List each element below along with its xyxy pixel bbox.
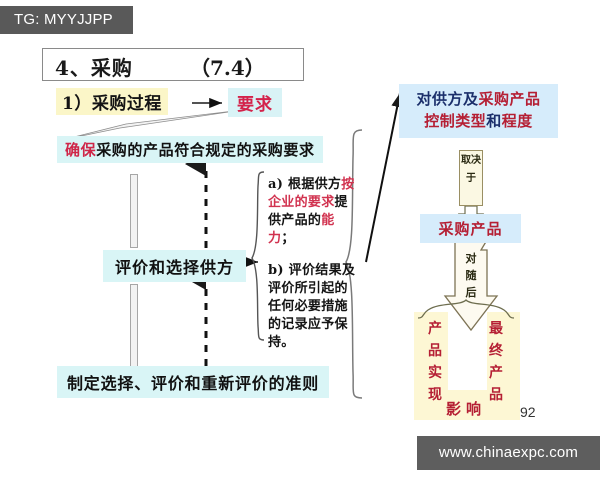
note-a-marker: a) <box>268 177 283 192</box>
note-a: a) 根据供方按企业的要求提供产品的能力； <box>268 176 360 248</box>
control-header-line2-a: 控制类型 <box>424 112 486 130</box>
criteria-band: 制定选择、评价和重新评价的准则 <box>57 366 329 398</box>
subtitle-result: 要求 <box>228 88 282 117</box>
effect-arrow-label: 对随后 <box>462 250 480 301</box>
tg-badge: TG: MYYJJPP <box>0 6 133 34</box>
impact-left-label: 产品实现 <box>425 318 445 406</box>
note-b: b) 评价结果及评价所引起的任何必要措施的记录应予保持。 <box>268 262 360 352</box>
watermark-badge: www.chinaexpc.com <box>417 436 600 470</box>
note-a-seg-0: 根据供方 <box>288 177 341 192</box>
clause-reference: （7.4） <box>190 52 265 81</box>
note-b-marker: b) <box>268 263 284 278</box>
control-header-line2-b: 和 <box>486 112 502 130</box>
page-title: 4、采购 <box>55 52 133 81</box>
control-header-line2-c: 程度 <box>502 112 533 130</box>
slide-page-number: 92 <box>520 404 536 420</box>
ensure-band-rest: 采购的产品符合规定的采购要求 <box>96 141 314 159</box>
note-a-seg-4: ； <box>281 231 294 246</box>
control-header-line1-a: 对供方及 <box>416 90 478 108</box>
depends-on-box: 取决于 <box>459 150 483 206</box>
purchased-product-box: 采购产品 <box>420 214 521 243</box>
connector-bar-top <box>130 174 138 248</box>
connector-bar-bottom <box>130 284 138 368</box>
ensure-band: 确保采购的产品符合规定的采购要求 <box>57 136 323 163</box>
impact-right-label: 最终产品 <box>486 318 506 406</box>
ensure-band-red: 确保 <box>65 141 96 159</box>
impact-bottom-label: 影响 <box>430 398 502 419</box>
control-header-box: 对供方及采购产品 控制类型和程度 <box>399 84 558 138</box>
slide-canvas: TG: MYYJJPP 4、采购 （7.4） 1）采购过程 要求 确保采购的产品… <box>0 0 600 480</box>
evaluate-band: 评价和选择供方 <box>103 250 246 282</box>
control-header-line1-b: 采购产品 <box>479 90 541 108</box>
subtitle-label: 1）采购过程 <box>56 88 168 115</box>
